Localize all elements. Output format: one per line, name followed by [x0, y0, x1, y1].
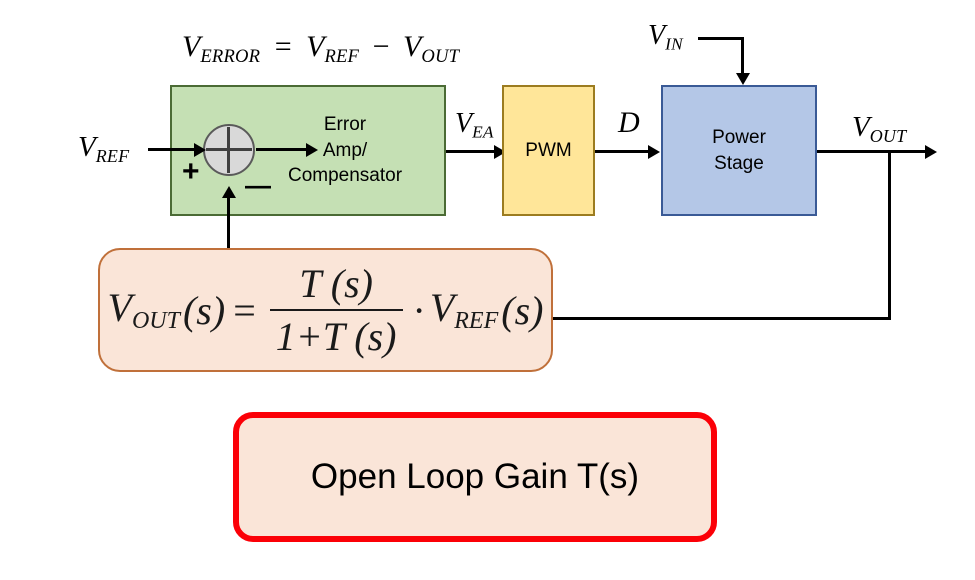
arrowhead-pwm-to-powerstage: [648, 145, 660, 159]
error-equation-vref: VREF: [306, 30, 359, 63]
closed-loop-equation: VOUT (s) = T (s) 1+T (s) · VREF (s): [108, 260, 544, 360]
error-equation-verror: VERROR: [182, 30, 260, 63]
wire-erroramp-to-pwm: [446, 150, 496, 153]
closed-loop-numerator: T (s): [293, 260, 379, 309]
block-pwm[interactable]: PWM: [502, 85, 595, 216]
summing-junction-cross-vertical: [227, 127, 230, 173]
block-pwm-label: PWM: [525, 138, 571, 164]
wire-pwm-to-powerstage: [595, 150, 650, 153]
wire-vref-to-sum: [148, 148, 196, 151]
error-equation-minus: −: [373, 30, 390, 63]
arrowhead-sum-to-erroramp: [306, 143, 318, 157]
error-equation-vout: VOUT: [403, 30, 459, 63]
diagram-canvas: VERROR = VREF − VOUT Error Amp/ Compensa…: [0, 0, 975, 580]
signal-label-vout: VOUT: [852, 113, 906, 145]
error-equation-label: VERROR = VREF − VOUT: [182, 32, 459, 67]
wire-feedback-tap-vertical: [888, 150, 891, 320]
arrowhead-output: [925, 145, 937, 159]
closed-loop-equation-box: VOUT (s) = T (s) 1+T (s) · VREF (s): [98, 248, 553, 372]
signal-label-vref: VREF: [78, 133, 129, 165]
wire-powerstage-output: [817, 150, 927, 153]
wire-vin-horizontal: [698, 37, 744, 40]
wire-vin-vertical: [741, 37, 744, 75]
closed-loop-denominator: 1+T (s): [270, 311, 403, 360]
closed-loop-rhs-arg: (s): [501, 287, 543, 334]
summing-junction-minus-sign: —: [245, 172, 271, 198]
closed-loop-rhs: VREF: [430, 284, 498, 335]
wire-sum-to-erroramp: [256, 148, 308, 151]
error-equation-equals: =: [275, 30, 292, 63]
closed-loop-equals: =: [233, 287, 256, 334]
signal-label-vea: VEA: [455, 110, 494, 141]
closed-loop-lhs-arg: (s): [183, 287, 225, 334]
closed-loop-dot: ·: [413, 287, 426, 334]
arrowhead-vref-to-sum: [194, 143, 206, 157]
closed-loop-lhs: VOUT: [108, 284, 180, 335]
open-loop-gain-callout: Open Loop Gain T(s): [233, 412, 717, 542]
arrowhead-vin-to-powerstage: [736, 73, 750, 85]
arrowhead-feedback-to-sum: [222, 186, 236, 198]
block-power-stage-label: Power Stage: [712, 125, 766, 177]
open-loop-gain-callout-label: Open Loop Gain T(s): [311, 457, 639, 497]
signal-label-d: D: [618, 108, 640, 143]
wire-feedback-tap-horizontal: [550, 317, 891, 320]
block-power-stage[interactable]: Power Stage: [661, 85, 817, 216]
summing-junction-plus-sign: +: [182, 157, 200, 187]
signal-label-vin: VIN: [648, 22, 683, 53]
closed-loop-fraction: T (s) 1+T (s): [270, 260, 403, 360]
